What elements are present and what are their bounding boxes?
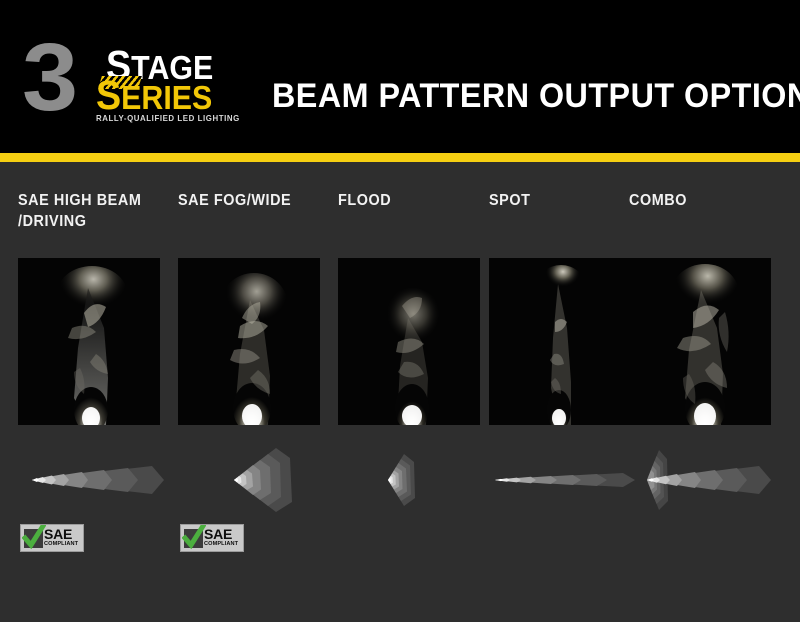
sae-compliant-badge: SAE COMPLIANT — [20, 524, 84, 552]
column-spot: SPOT — [489, 162, 631, 582]
column-label-line2: /DRIVING — [18, 213, 87, 230]
beam-photo-sae-fog-wide — [178, 258, 320, 425]
beam-pattern-infographic: 3 STAGE SERIES RALLY-QUALIFIED LED LIGHT… — [0, 0, 800, 622]
column-flood: FLOOD — [338, 162, 480, 582]
yellow-accent-divider — [0, 153, 800, 162]
column-sae-high-beam-driving: SAE HIGH BEAM /DRIVING — [18, 162, 160, 582]
page-title: BEAM PATTERN OUTPUT OPTIONS — [272, 78, 800, 114]
logo-series-cap: S — [96, 72, 121, 118]
stage-series-logo: 3 STAGE SERIES RALLY-QUALIFIED LED LIGHT… — [22, 32, 252, 132]
beam-diagram-flood — [338, 444, 490, 516]
column-label: SAE HIGH BEAM /DRIVING — [18, 190, 171, 232]
beam-diagram-driving — [18, 444, 170, 516]
column-label: SPOT — [489, 190, 642, 211]
sae-badge-title: SAE — [44, 528, 78, 541]
sae-badge-subtitle: COMPLIANT — [204, 541, 238, 548]
beam-photo-combo — [629, 258, 771, 425]
beam-photo-spot — [489, 258, 631, 425]
header-banner: 3 STAGE SERIES RALLY-QUALIFIED LED LIGHT… — [0, 0, 800, 153]
column-label: SAE FOG/WIDE — [178, 190, 331, 211]
beam-photo-flood — [338, 258, 480, 425]
sae-check-box — [184, 529, 203, 548]
beam-photo-sae-high-beam-driving — [18, 258, 160, 425]
sae-badge-text: SAE COMPLIANT — [44, 528, 78, 548]
sae-badge-subtitle: COMPLIANT — [44, 541, 78, 548]
logo-series-rest: ERIES — [121, 79, 212, 116]
column-sae-fog-wide: SAE FOG/WIDE — [178, 162, 320, 582]
sae-compliant-badge: SAE COMPLIANT — [180, 524, 244, 552]
column-label-line1: COMBO — [629, 192, 687, 209]
column-label-line1: SPOT — [489, 192, 530, 209]
beam-diagram-wide — [178, 444, 330, 516]
logo-tagline: RALLY-QUALIFIED LED LIGHTING — [96, 114, 240, 123]
column-label: COMBO — [629, 190, 782, 211]
beam-diagram-combo — [629, 444, 781, 516]
checkmark-icon — [22, 525, 46, 551]
sae-badge-title: SAE — [204, 528, 238, 541]
logo-word-series: SERIES — [96, 79, 212, 114]
sae-badge-text: SAE COMPLIANT — [204, 528, 238, 548]
logo-numeral-3: 3 — [22, 30, 74, 126]
column-label-line1: SAE FOG/WIDE — [178, 192, 291, 209]
column-label-line1: FLOOD — [338, 192, 391, 209]
column-label-line1: SAE HIGH BEAM — [18, 192, 141, 209]
beam-diagram-spot — [489, 444, 641, 516]
checkmark-icon — [182, 525, 206, 551]
column-label: FLOOD — [338, 190, 491, 211]
sae-check-box — [24, 529, 43, 548]
column-combo: COMBO — [629, 162, 771, 582]
